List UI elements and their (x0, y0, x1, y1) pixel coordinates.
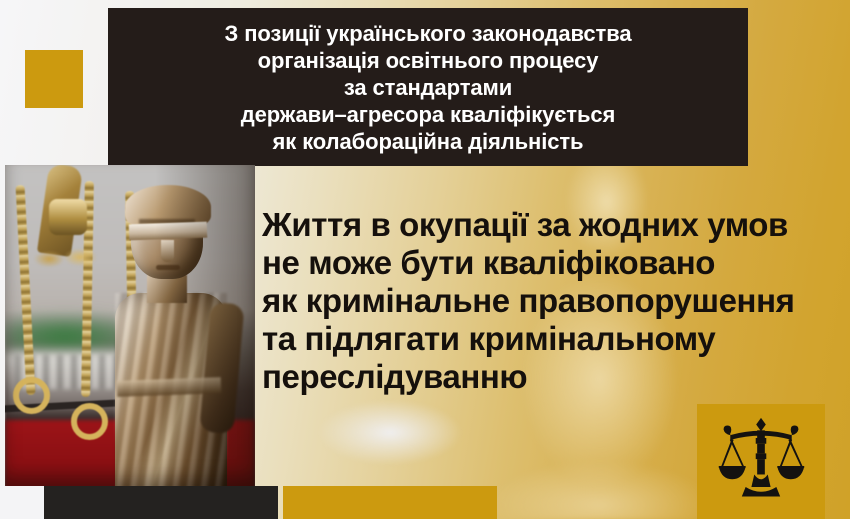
scales-of-justice-icon (713, 414, 809, 510)
bottom-dark-bar (44, 486, 278, 519)
header-banner-text: З позиції українського законодавства орг… (217, 20, 640, 155)
photo-edge-shadow (5, 165, 255, 487)
scales-of-justice-badge (697, 404, 825, 519)
gold-accent-square-top-left (25, 50, 83, 108)
bottom-gold-bar (283, 486, 497, 519)
lady-justice-photo (5, 165, 255, 487)
main-statement-text: Життя в окупації за жодних умов не може … (262, 206, 842, 396)
slide-canvas: З позиції українського законодавства орг… (0, 0, 850, 519)
bottom-white-gap (0, 486, 44, 519)
header-banner: З позиції українського законодавства орг… (108, 8, 748, 166)
photo-scene (5, 165, 255, 487)
